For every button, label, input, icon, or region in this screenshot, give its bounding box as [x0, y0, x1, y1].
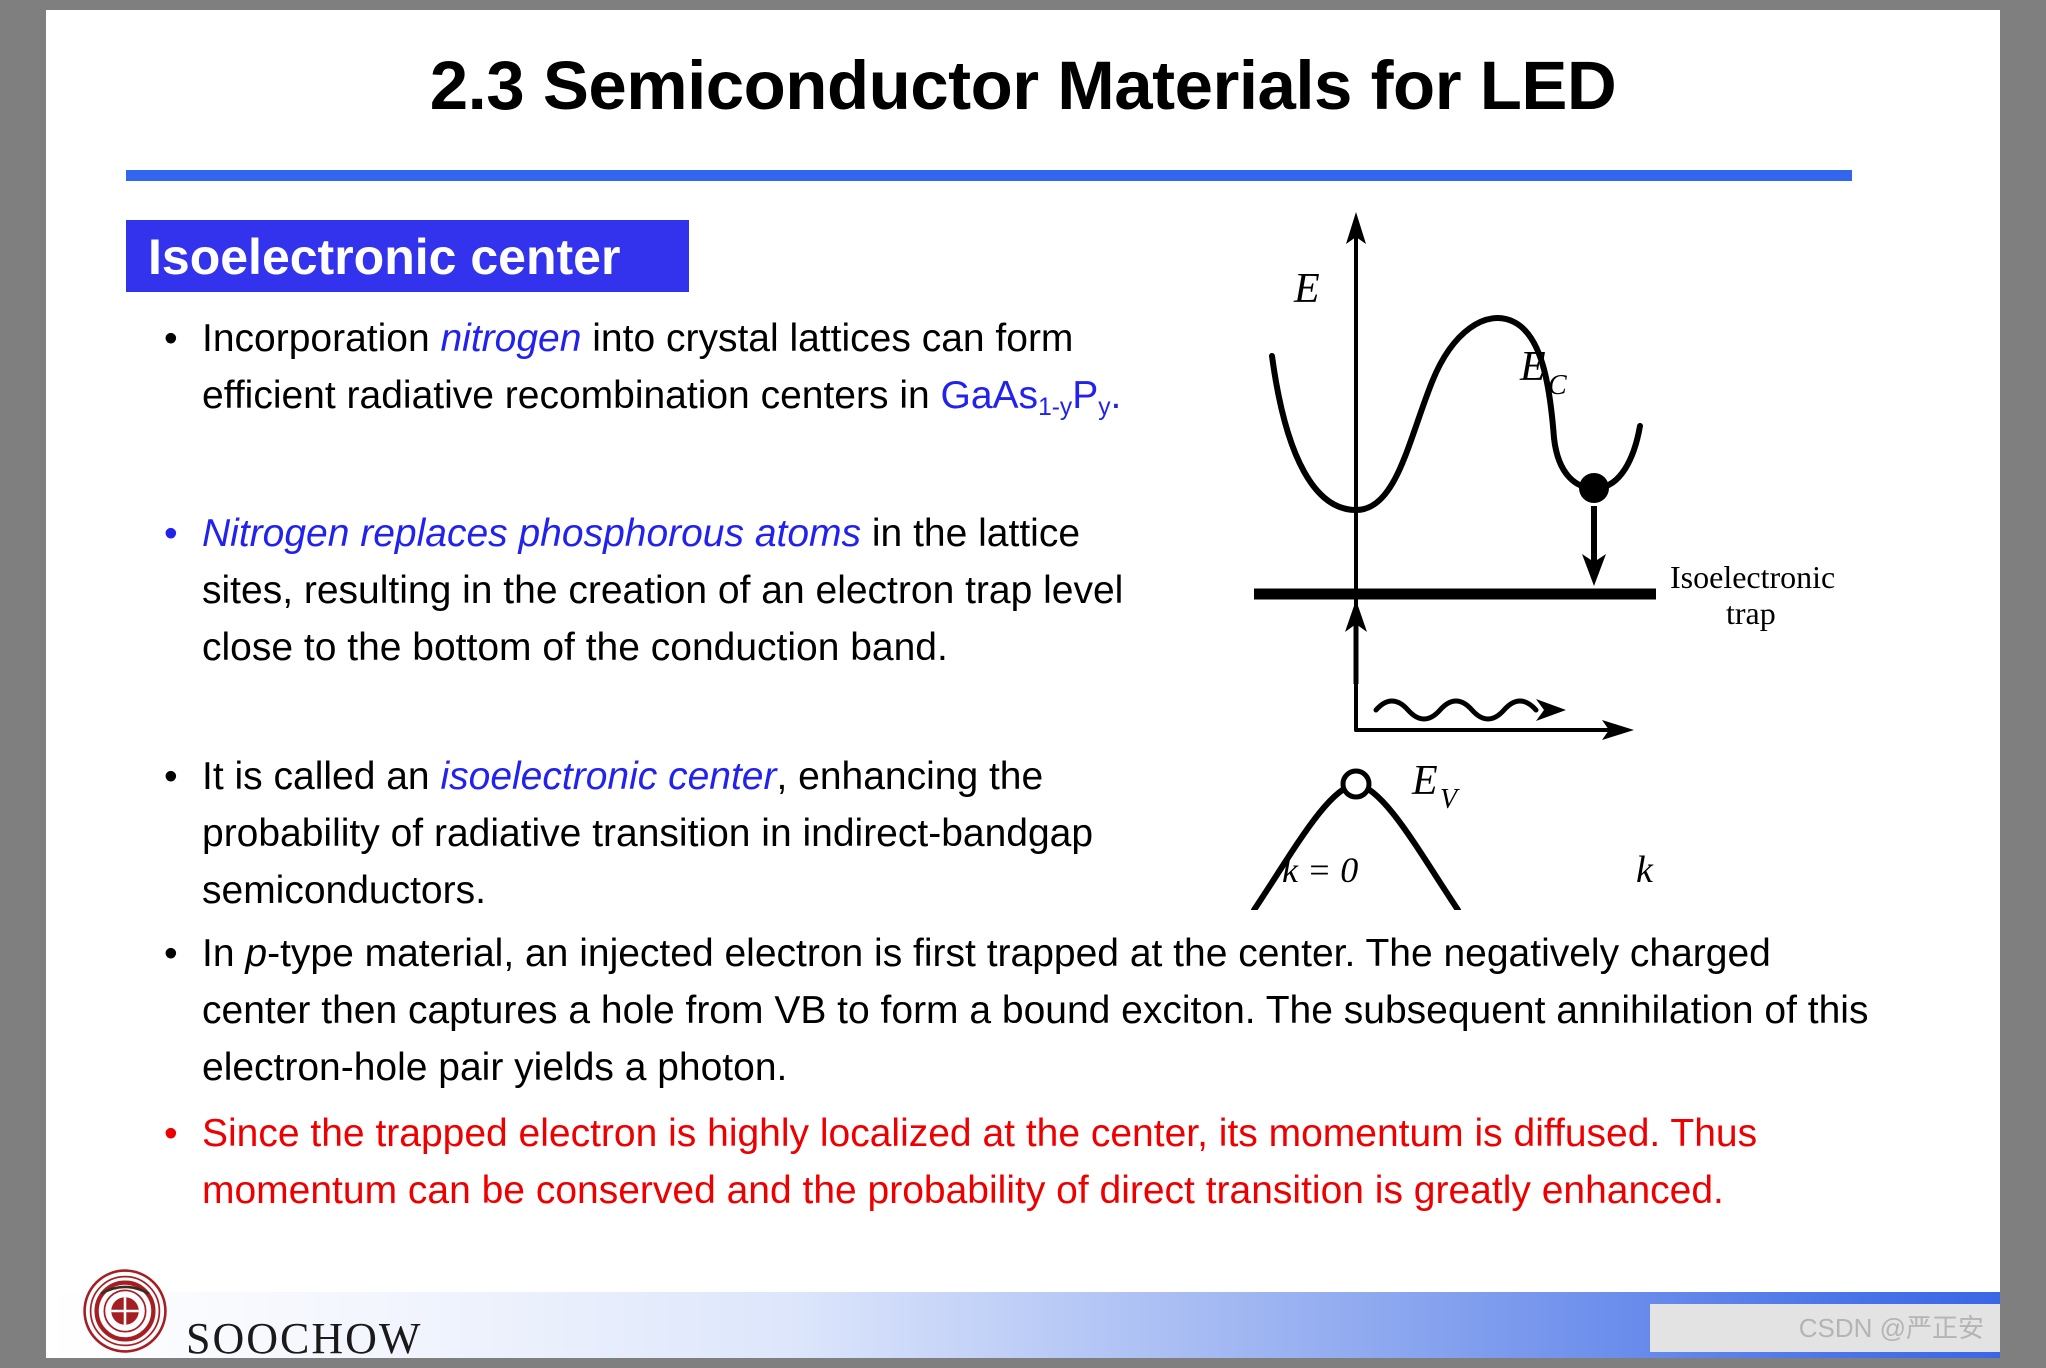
school-name: SOOCHOW — [186, 1313, 422, 1358]
electron-dot — [1579, 473, 1609, 503]
isoelectronic-trap-label-line2: trap — [1726, 595, 1776, 631]
bullet-marker: • — [164, 748, 202, 805]
conduction-band-label: E — [1519, 344, 1546, 390]
bullet-text: In p-type material, an injected electron… — [202, 925, 1884, 1096]
run-text: -type material, an injected electron is … — [202, 932, 1868, 1089]
band-diagram-figure: E E C E V Isoelectronic trap k = 0 k — [1236, 210, 1856, 910]
bullet-text: Nitrogen replaces phosphorous atoms in t… — [202, 505, 1124, 676]
title-divider — [126, 170, 1852, 181]
run-formula-gaas: GaAs — [941, 374, 1039, 417]
bullet-item: • It is called an isoelectronic center, … — [164, 748, 1124, 919]
photon-wave — [1376, 701, 1536, 719]
bullet-text: Since the trapped electron is highly loc… — [202, 1105, 1884, 1219]
bullet-item: • Incorporation nitrogen into crystal la… — [164, 310, 1124, 436]
valence-band-label-subscript: V — [1440, 784, 1460, 815]
bullet-marker: • — [164, 925, 202, 982]
bullet-marker: • — [164, 505, 202, 562]
run-emphasis-nitrogen: nitrogen — [440, 317, 581, 360]
run-text: It is called an — [202, 755, 440, 798]
bullet-item: • In p-type material, an injected electr… — [164, 925, 1884, 1096]
run-formula-sub-y: y — [1098, 394, 1110, 421]
run-emphasis-p: p — [245, 932, 267, 975]
bullet-marker: • — [164, 310, 202, 367]
soochow-university-seal-icon — [82, 1268, 168, 1354]
hole-circle — [1343, 771, 1369, 797]
run-text: In — [202, 932, 245, 975]
run-formula-sub-1y: 1-y — [1038, 394, 1072, 421]
bullet-item: • Nitrogen replaces phosphorous atoms in… — [164, 505, 1124, 676]
momentum-axis-label: k — [1636, 849, 1654, 891]
bullet-item: • Since the trapped electron is highly l… — [164, 1105, 1884, 1219]
photon-arrowhead — [1536, 699, 1566, 721]
run-emphasis-nitrogen-replaces: Nitrogen replaces phosphorous atoms — [202, 512, 861, 555]
bullet-text: Incorporation nitrogen into crystal latt… — [202, 310, 1124, 436]
section-heading-label: Isoelectronic center — [148, 228, 620, 286]
run-formula-p: P — [1072, 374, 1098, 417]
section-heading-box: Isoelectronic center — [126, 220, 689, 292]
run-emphasis-isoelectronic-center: isoelectronic center — [440, 755, 776, 798]
slide-canvas: 2.3 Semiconductor Materials for LED Isoe… — [46, 10, 2000, 1358]
valence-band-label: E — [1411, 758, 1438, 804]
watermark: CSDN @严正安 — [1650, 1304, 2000, 1352]
page-title: 2.3 Semiconductor Materials for LED — [46, 46, 2000, 125]
run-formula-period: . — [1110, 374, 1121, 417]
origin-label: k = 0 — [1282, 850, 1358, 890]
band-diagram-svg: E E C E V Isoelectronic trap k = 0 k — [1236, 210, 1856, 910]
isoelectronic-trap-label-line1: Isoelectronic — [1670, 559, 1835, 595]
bullet-text: It is called an isoelectronic center, en… — [202, 748, 1124, 919]
bullet-marker: • — [164, 1105, 202, 1162]
conduction-band-label-subscript: C — [1548, 370, 1567, 401]
energy-axis-label: E — [1293, 266, 1320, 312]
conduction-band-curve — [1272, 318, 1554, 510]
run-text: Incorporation — [202, 317, 440, 360]
